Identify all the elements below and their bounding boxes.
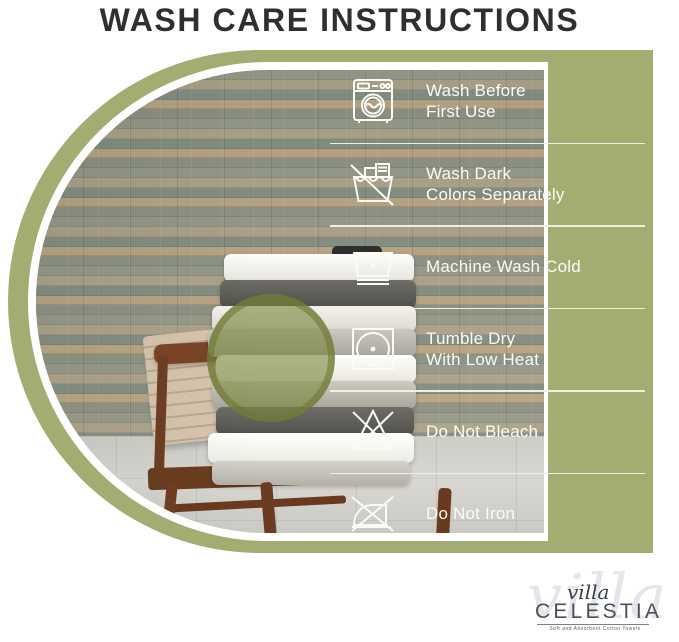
washing-machine-icon (342, 77, 404, 125)
instruction-label: Do Not Bleach (404, 421, 538, 442)
instruction-row-machine-wash-cold: Machine Wash Cold (330, 225, 679, 308)
instruction-label: Do Not Iron (404, 503, 515, 524)
machine-wash-cold-icon (342, 243, 404, 289)
tumble-dry-low-icon (342, 325, 404, 373)
instruction-row-tumble-dry-with-low-heat: Tumble Dry With Low Heat (330, 308, 679, 391)
page-title: WASH CARE INSTRUCTIONS (0, 0, 679, 40)
logo-wordmark: CELESTIA (535, 600, 662, 624)
brand-logo: villa villa CELESTIA Soft and Absorbent … (521, 554, 667, 640)
do-not-bleach-icon (342, 406, 404, 456)
instruction-label: Wash Before First Use (404, 80, 526, 122)
instruction-label: Machine Wash Cold (404, 256, 581, 277)
logo-rule (537, 624, 649, 625)
instruction-row-wash-before-first-use: Wash Before First Use (330, 60, 679, 143)
instruction-label: Tumble Dry With Low Heat (404, 328, 539, 370)
instruction-row-wash-dark-colors-separately: Wash Dark Colors Separately (330, 143, 679, 226)
logo-tagline: Soft and Absorbent Cotton Towels (537, 626, 653, 632)
wash-care-infographic: WASH CARE INSTRUCTIONS (0, 0, 679, 642)
instruction-row-do-not-iron: Do Not Iron (330, 473, 679, 556)
no-mixed-colors-icon (342, 160, 404, 208)
do-not-iron-icon (342, 492, 404, 536)
instruction-row-do-not-bleach: Do Not Bleach (330, 390, 679, 473)
instruction-label: Wash Dark Colors Separately (404, 163, 565, 205)
decorative-circle-overlay (207, 294, 335, 422)
instruction-list: Wash Before First Use Wash Dark Colors S… (330, 60, 679, 555)
